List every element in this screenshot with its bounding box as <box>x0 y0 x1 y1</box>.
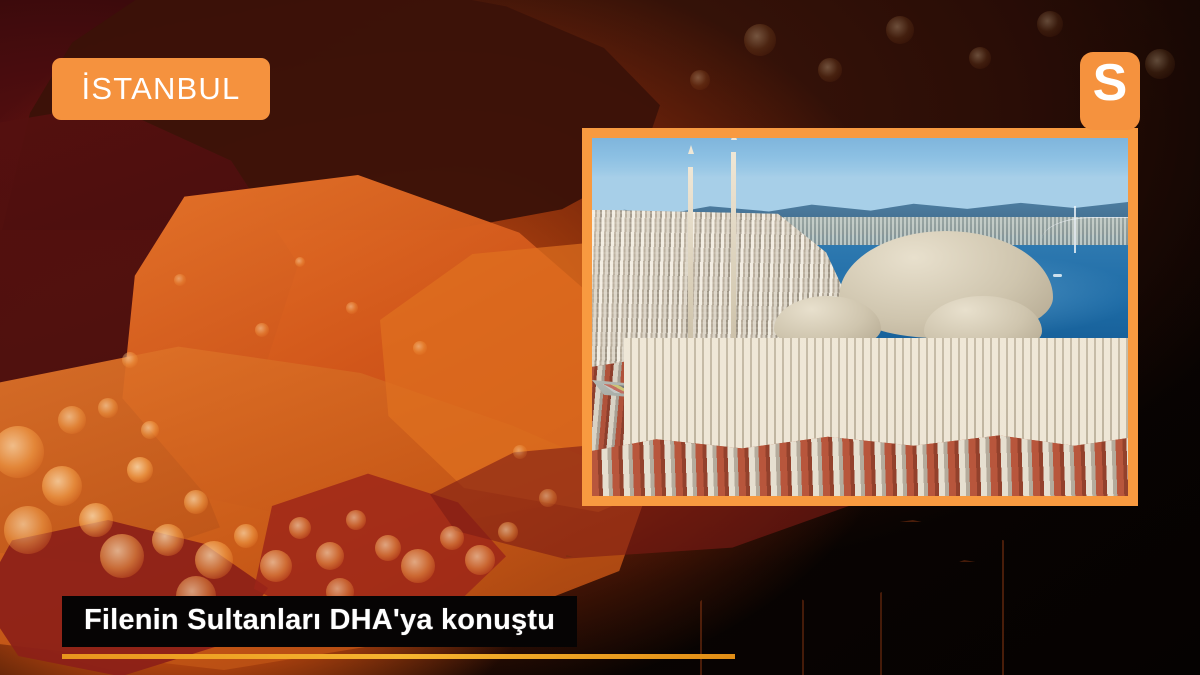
boat-dot <box>1053 274 1062 277</box>
bokeh-dot <box>0 426 44 478</box>
bokeh-dot <box>152 524 184 556</box>
bokeh-dot <box>98 398 118 418</box>
bokeh-dot <box>255 323 269 337</box>
bokeh-dot <box>4 506 52 554</box>
bokeh-dot <box>295 257 305 267</box>
bokeh-dot <box>440 526 464 550</box>
bokeh-dot <box>195 541 233 579</box>
headline-underline <box>62 654 735 659</box>
photo-card <box>582 128 1138 506</box>
bokeh-dot <box>100 534 144 578</box>
bokeh-dot <box>375 535 401 561</box>
bokeh-dot <box>289 517 311 539</box>
minaret-tip-icon <box>731 138 737 140</box>
bokeh-dot <box>465 545 495 575</box>
bokeh-dot <box>79 503 113 537</box>
bokeh-dot <box>127 457 153 483</box>
istanbul-panorama-photo <box>592 138 1128 496</box>
headline-bar: Filenin Sultanları DHA'ya konuştu <box>62 596 577 647</box>
bokeh-dot <box>42 466 82 506</box>
bokeh-dot <box>184 490 208 514</box>
bokeh-dot <box>174 274 186 286</box>
bokeh-dot <box>744 24 776 56</box>
news-card-graphic: İSTANBUL <box>0 0 1200 675</box>
brand-logo-letter: S <box>1093 58 1128 108</box>
brand-logo: S <box>1080 52 1140 130</box>
bokeh-dot <box>346 510 366 530</box>
bokeh-dot <box>346 302 358 314</box>
bokeh-dot <box>690 70 710 90</box>
bokeh-dot <box>818 58 842 82</box>
bokeh-dot <box>122 352 138 368</box>
bokeh-dot <box>316 542 344 570</box>
location-badge: İSTANBUL <box>52 58 270 120</box>
location-badge-label: İSTANBUL <box>82 71 241 107</box>
bokeh-dot <box>498 522 518 542</box>
bokeh-dot <box>413 341 427 355</box>
bokeh-dot <box>401 549 435 583</box>
bokeh-dot <box>969 47 991 69</box>
bokeh-dot <box>58 406 86 434</box>
bokeh-dot <box>1145 49 1175 79</box>
minaret-tip-icon <box>688 145 694 154</box>
bokeh-dot <box>141 421 159 439</box>
bokeh-dot <box>234 524 258 548</box>
bokeh-dot <box>1037 11 1063 37</box>
bokeh-dot <box>886 16 914 44</box>
bokeh-dot <box>513 445 527 459</box>
headline-text: Filenin Sultanları DHA'ya konuştu <box>84 604 555 636</box>
bokeh-dot <box>260 550 292 582</box>
bosphorus-bridge-tower-icon <box>1074 206 1076 253</box>
bokeh-dot <box>539 489 557 507</box>
